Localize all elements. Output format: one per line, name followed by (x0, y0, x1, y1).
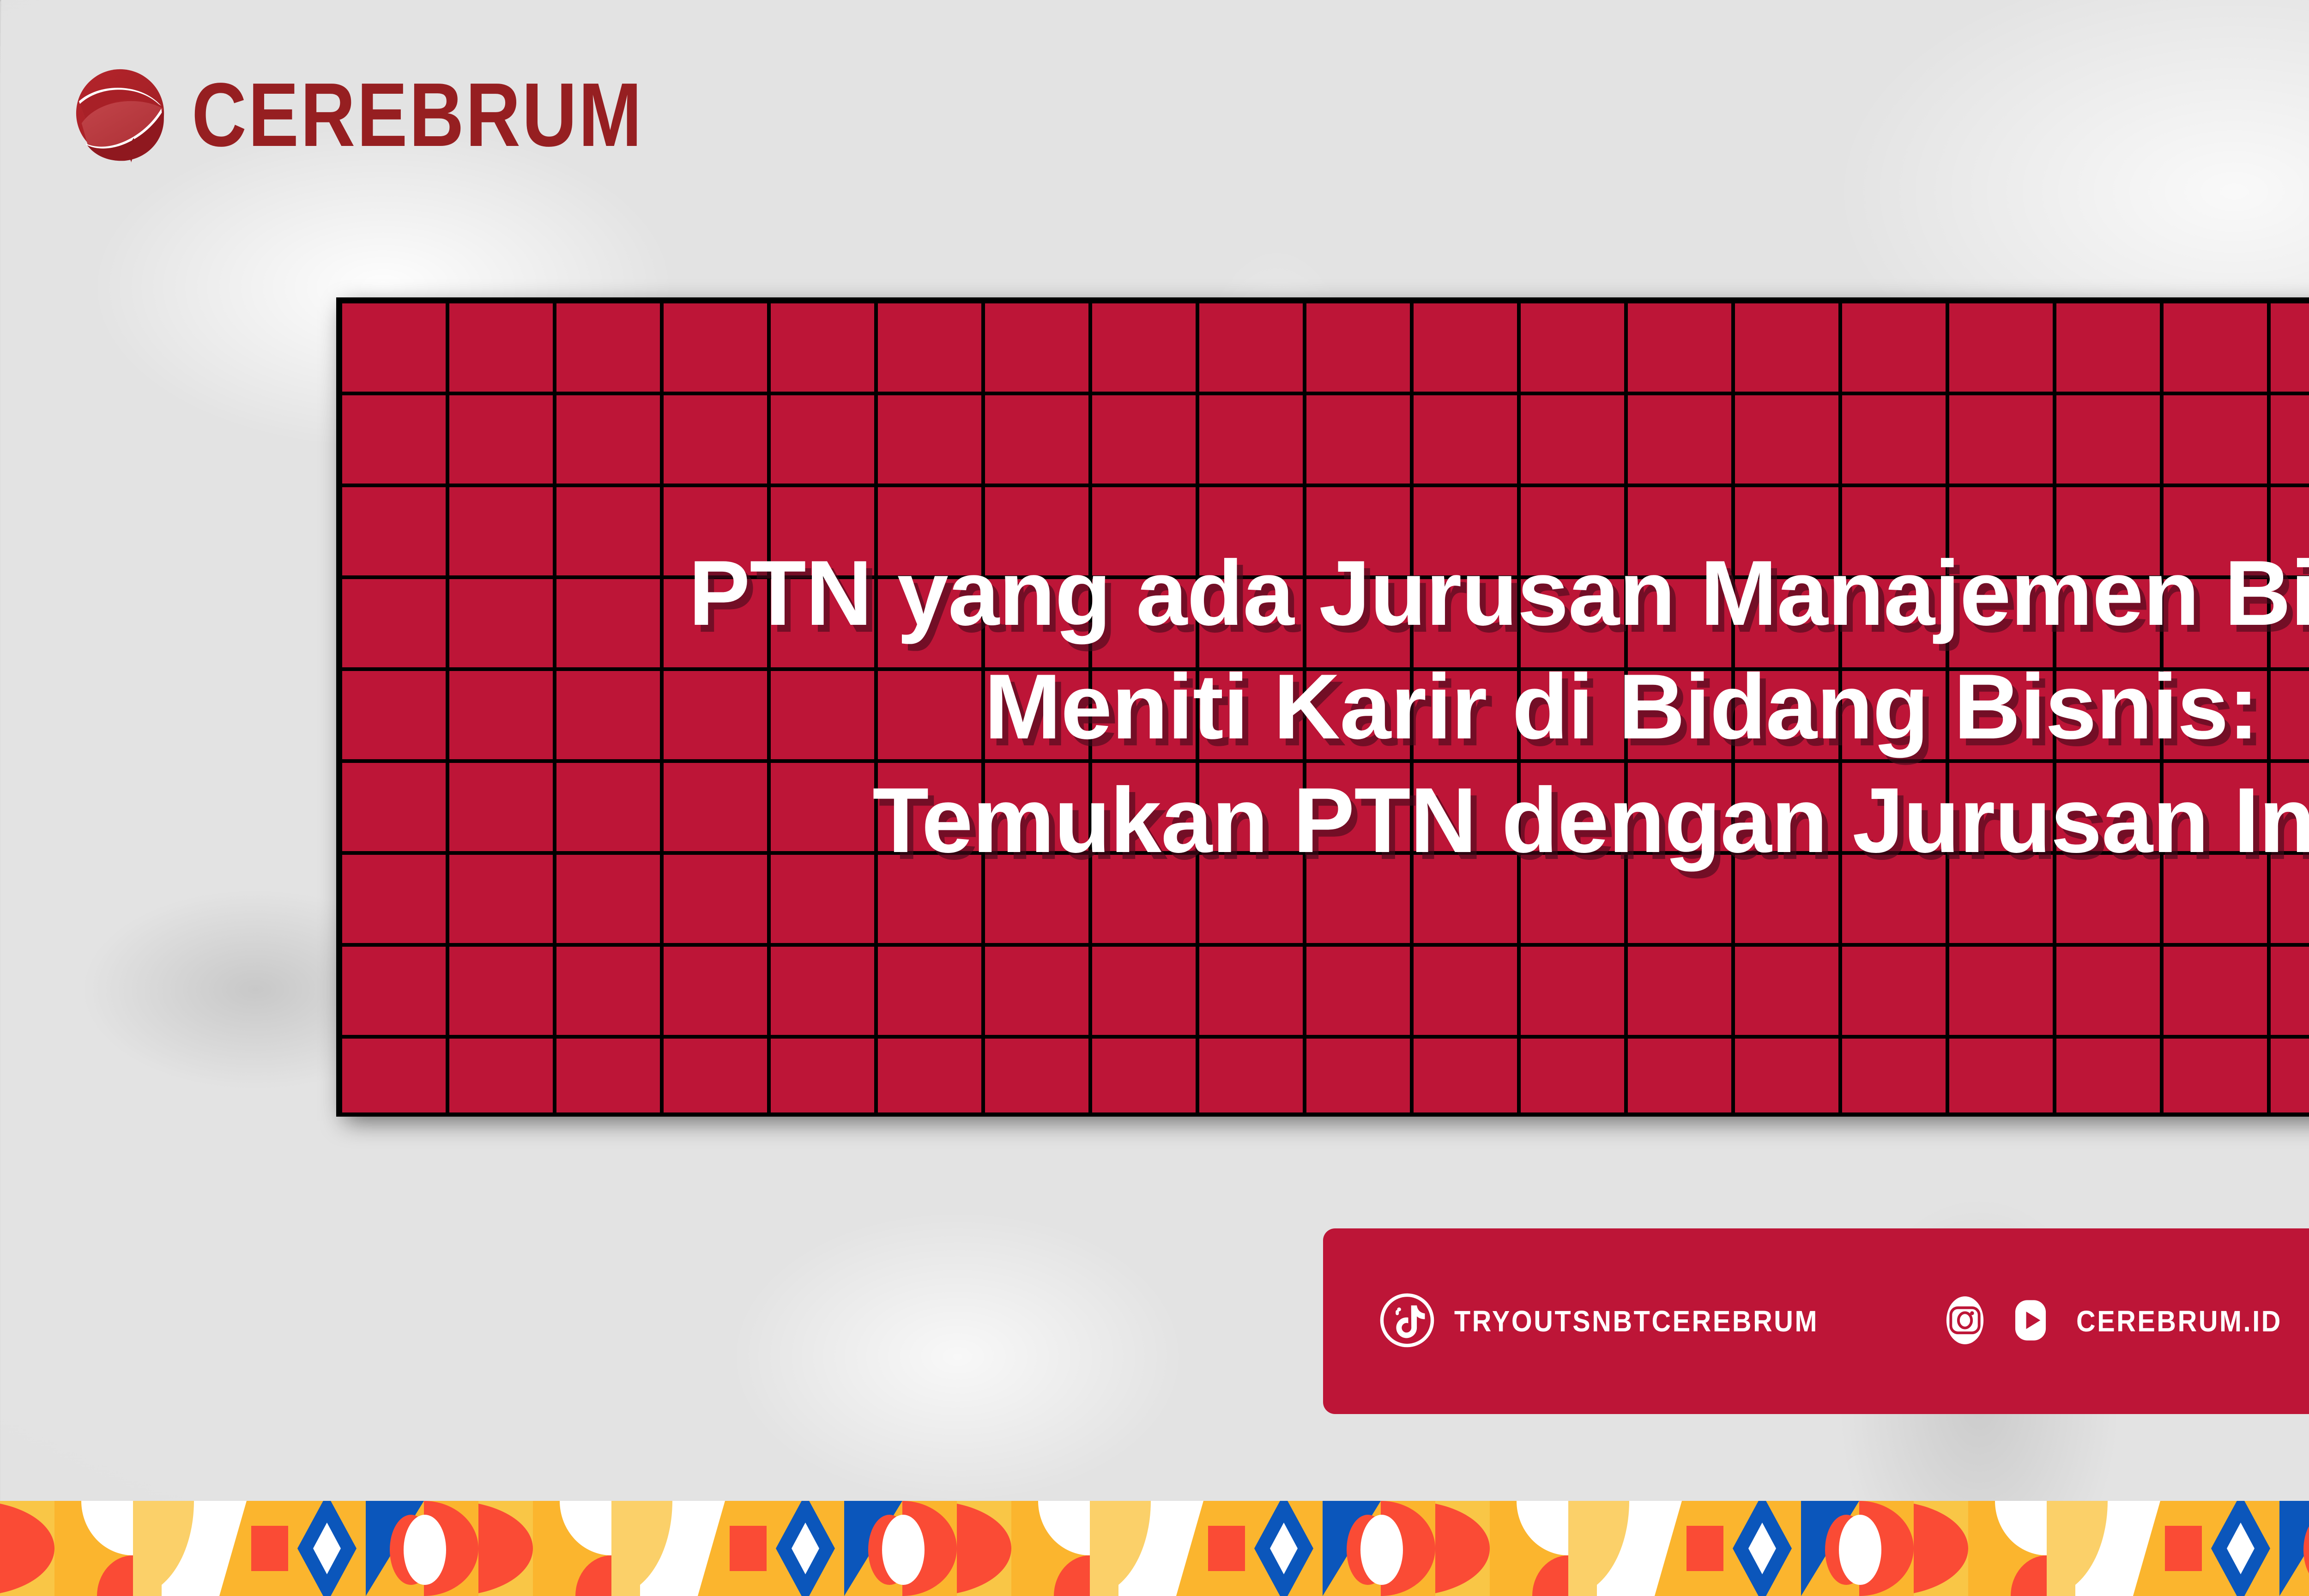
decorative-tile-half-circle-red (0, 1501, 54, 1596)
instagram-icon[interactable] (1938, 1293, 1992, 1350)
cerebrum-brain-speech-bubble-logo-icon (72, 65, 172, 165)
decorative-tile-quarter-curve-orange (1968, 1501, 2047, 1596)
decorative-tile-blue-diamond (1723, 1501, 1801, 1596)
decorative-tile-red-half-circle-white-ellipse (1859, 1501, 1914, 1596)
decorative-tile-blue-diamond (2202, 1501, 2279, 1596)
decorative-tile-red-half-circle-white-ellipse (424, 1501, 478, 1596)
social-group-instagram-youtube[interactable]: CEREBRUM.ID (1938, 1293, 2305, 1350)
decorative-tile-blue-diamond (767, 1501, 844, 1596)
decorative-pattern-strip (0, 1501, 2309, 1596)
social-group-tiktok[interactable]: TRYOUTSNBTCEREBRUM (1378, 1292, 1859, 1351)
youtube-icon[interactable] (2003, 1293, 2058, 1350)
social-footer-bar: TRYOUTSNBTCEREBRUM CEREBRUM.ID (1323, 1228, 2309, 1414)
decorative-tile-yellow-curve (611, 1501, 689, 1596)
tiktok-handle-label: TRYOUTSNBTCEREBRUM (1454, 1304, 1819, 1338)
brand-wordmark: CEREBRUM (192, 73, 643, 157)
page-title: PTN yang ada Jurusan Manajemen Bisnis - … (340, 537, 2309, 877)
decorative-tile-blue-triangle-red-ellipse (2279, 1501, 2309, 1596)
decorative-tile-rect-red-on-orange (1167, 1501, 1245, 1596)
decorative-tile-rect-red-on-orange (1646, 1501, 1723, 1596)
decorative-tile-yellow-curve (1090, 1501, 1167, 1596)
decorative-tile-half-circle-red (1435, 1501, 1490, 1596)
decorative-tile-quarter-curve-orange (533, 1501, 611, 1596)
decorative-tile-yellow-curve (1568, 1501, 1646, 1596)
decorative-tile-yellow-curve (2047, 1501, 2124, 1596)
decorative-tile-blue-diamond (1245, 1501, 1323, 1596)
decorative-tile-yellow-curve (133, 1501, 211, 1596)
tiktok-icon[interactable] (1378, 1292, 1436, 1351)
decorative-tile-quarter-curve-orange (1490, 1501, 1568, 1596)
decorative-tile-rect-red-on-orange (211, 1501, 288, 1596)
brand-logo: CEREBRUM (72, 65, 729, 165)
decorative-tile-quarter-curve-orange (54, 1501, 133, 1596)
decorative-tile-red-half-circle-white-ellipse (1381, 1501, 1435, 1596)
website-handle-label: CEREBRUM.ID (2076, 1304, 2282, 1338)
decorative-tile-rect-red-on-orange (2124, 1501, 2202, 1596)
decorative-tile-blue-diamond (288, 1501, 366, 1596)
decorative-tile-half-circle-red (1914, 1501, 1968, 1596)
decorative-tile-rect-red-on-orange (689, 1501, 767, 1596)
title-panel: PTN yang ada Jurusan Manajemen Bisnis - … (336, 297, 2309, 1117)
decorative-tile-half-circle-red (478, 1501, 533, 1596)
decorative-tile-red-half-circle-white-ellipse (902, 1501, 957, 1596)
decorative-tile-half-circle-red (957, 1501, 1011, 1596)
decorative-tile-quarter-curve-orange (1011, 1501, 1090, 1596)
